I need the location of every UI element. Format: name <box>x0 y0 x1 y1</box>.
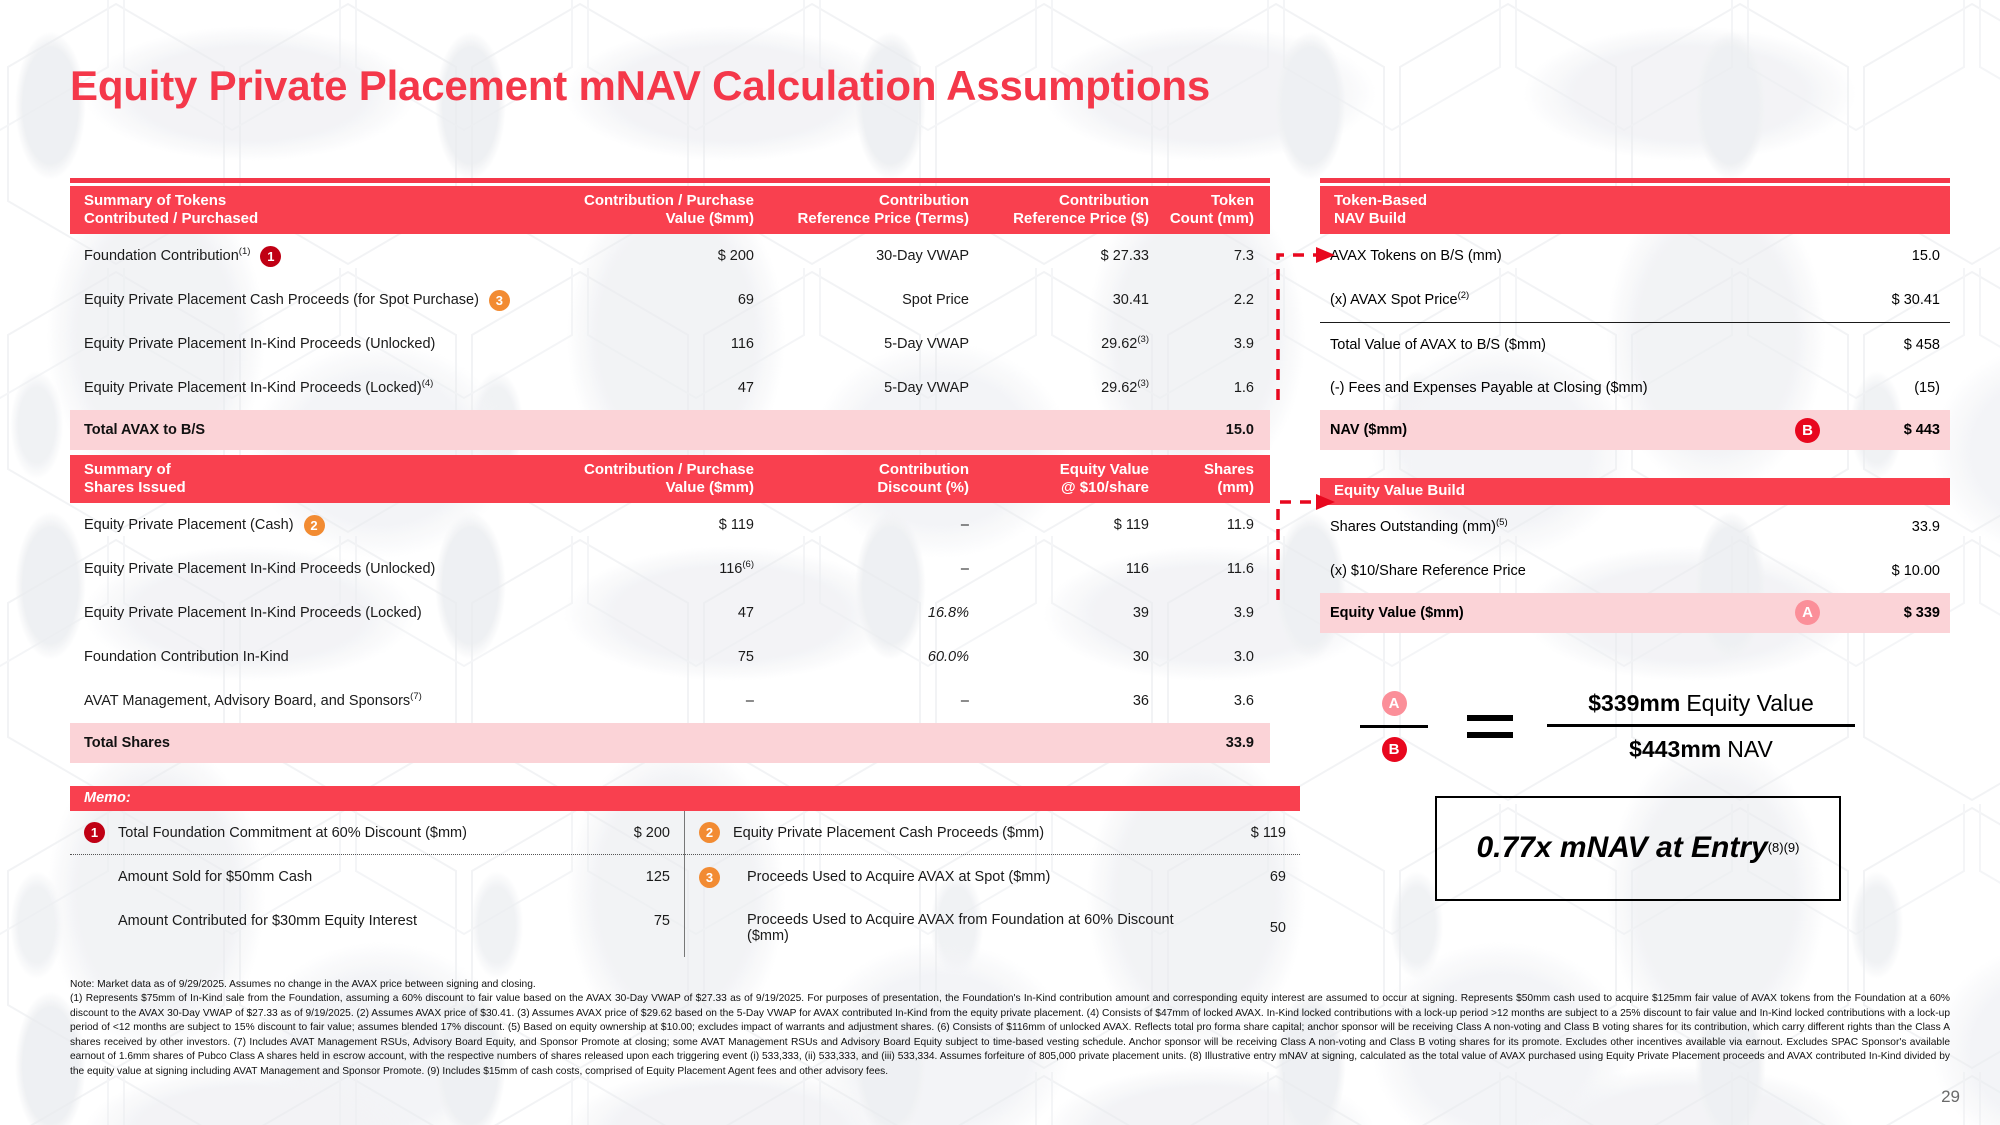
shares-row-shares: 11.6 <box>1149 561 1254 577</box>
tokens-total-label: Total AVAX to B/S <box>84 422 564 438</box>
memo-left-row: Amount Contributed for $30mm Equity Inte… <box>70 899 684 943</box>
table-row: Foundation Contribution(1) 1 $ 200 30-Da… <box>70 234 1270 278</box>
tokens-header-col2-line1: Contribution <box>754 192 969 210</box>
nav-row-label-sup: (2) <box>1458 291 1470 302</box>
tokens-row-label-sup: (4) <box>422 379 434 390</box>
nav-build-body: AVAX Tokens on B/S (mm) 15.0 (x) AVAX Sp… <box>1320 234 1950 410</box>
shares-row-discount: – <box>754 517 969 533</box>
memo-left-value: $ 200 <box>580 825 670 841</box>
shares-total-label: Total Shares <box>84 735 564 751</box>
memo-right-row: 3 Proceeds Used to Acquire AVAX at Spot … <box>685 855 1300 899</box>
shares-row-label: Foundation Contribution In-Kind <box>84 649 289 665</box>
formula-fraction-ab: A B <box>1355 691 1433 762</box>
equity-total-row: Equity Value ($mm) A $ 339 <box>1320 593 1950 633</box>
shares-row-value: 75 <box>564 649 754 665</box>
tokens-header-col0-line1: Summary of Tokens <box>84 192 564 210</box>
shares-row-discount: – <box>754 561 969 577</box>
memo-right-label: Proceeds Used to Acquire AVAX from Found… <box>733 912 1196 944</box>
memo-right-column: 2 Equity Private Placement Cash Proceeds… <box>685 811 1300 957</box>
tokens-row-terms: Spot Price <box>754 292 969 308</box>
shares-row-discount: – <box>754 693 969 709</box>
memo-right-value: 50 <box>1196 920 1286 936</box>
tokens-header-col0-line2: Contributed / Purchased <box>84 210 564 228</box>
shares-row-label-sup: (7) <box>410 692 422 703</box>
nav-row-label: AVAX Tokens on B/S (mm) <box>1330 248 1502 264</box>
tokens-table-header: Summary of Tokens Contributed / Purchase… <box>70 186 1270 234</box>
nav-total-label: NAV ($mm) <box>1330 422 1795 438</box>
tokens-total-row: Total AVAX to B/S 15.0 <box>70 410 1270 450</box>
slide-root: Equity Private Placement mNAV Calculatio… <box>0 0 2000 1125</box>
nav-total-value: $ 443 <box>1860 422 1940 438</box>
mnav-result-box: 0.77x mNAV at Entry(8)(9) <box>1435 796 1841 901</box>
memo-left-value: 75 <box>580 913 670 929</box>
memo-left-badge: 1 <box>84 822 105 843</box>
fraction-bar-left <box>1360 725 1428 728</box>
shares-header-col1-line2: Value ($mm) <box>564 479 754 497</box>
tokens-row-label: Equity Private Placement In-Kind Proceed… <box>84 336 435 352</box>
tokens-header-col3-line2: Reference Price ($) <box>969 210 1149 228</box>
tokens-row-price: 30.41 <box>969 292 1149 308</box>
nav-row-value: (15) <box>1914 380 1940 396</box>
tokens-table-topbar <box>70 178 1270 183</box>
memo-left-row: 1 Total Foundation Commitment at 60% Dis… <box>70 811 684 855</box>
shares-table-header: Summary of Shares Issued Contribution / … <box>70 455 1270 503</box>
nav-row-value: 15.0 <box>1912 248 1940 264</box>
shares-row-shares: 3.9 <box>1149 605 1254 621</box>
tokens-row-count: 3.9 <box>1149 336 1254 352</box>
shares-row-discount: 60.0% <box>754 649 969 665</box>
numerator-value: $339mm <box>1588 690 1680 716</box>
memo-left-label: Total Foundation Commitment at 60% Disco… <box>118 825 580 841</box>
nav-build-row: (x) AVAX Spot Price(2) $ 30.41 <box>1320 278 1950 322</box>
shares-header-col3-line2: @ $10/share <box>969 479 1149 497</box>
tokens-row-terms: 5-Day VWAP <box>754 380 969 396</box>
shares-row-equity-value: 36 <box>969 693 1149 709</box>
memo-right-badge: 2 <box>699 822 720 843</box>
equity-build-row: Shares Outstanding (mm)(5) 33.9 <box>1320 505 1950 549</box>
tokens-row-value: 47 <box>564 380 754 396</box>
shares-row-shares: 3.0 <box>1149 649 1254 665</box>
nav-build-header-line2: NAV Build <box>1334 210 1936 228</box>
nav-row-label: (x) AVAX Spot Price(2) <box>1330 292 1469 308</box>
tokens-total-count: 15.0 <box>1149 422 1254 438</box>
memo-left-column: 1 Total Foundation Commitment at 60% Dis… <box>70 811 685 957</box>
shares-row-equity-value: 39 <box>969 605 1149 621</box>
memo-left-label: Amount Contributed for $30mm Equity Inte… <box>118 913 580 929</box>
shares-header-col0-line2: Shares Issued <box>84 479 564 497</box>
shares-header-col2-line2: Discount (%) <box>754 479 969 497</box>
memo-left-label: Amount Sold for $50mm Cash <box>118 869 580 885</box>
tokens-row-price-sup: (3) <box>1137 335 1149 346</box>
nav-build-header: Token-Based NAV Build <box>1320 186 1950 234</box>
nav-row-label: Total Value of AVAX to B/S ($mm) <box>1330 337 1546 353</box>
tokens-row-value: $ 200 <box>564 248 754 264</box>
memo-right-badge: 3 <box>699 867 720 888</box>
shares-row-value-sup: (6) <box>742 560 754 571</box>
memo-right-row: 2 Equity Private Placement Cash Proceeds… <box>685 811 1300 855</box>
nav-build-row: (-) Fees and Expenses Payable at Closing… <box>1320 366 1950 410</box>
shares-row-equity-value: 30 <box>969 649 1149 665</box>
tokens-row-badge: 1 <box>260 246 281 267</box>
equity-row-label: (x) $10/Share Reference Price <box>1330 563 1526 579</box>
nav-badge-b: B <box>1795 418 1820 443</box>
tokens-row-badge: 3 <box>489 290 510 311</box>
shares-header-col4-line2: (mm) <box>1149 479 1254 497</box>
equity-row-value: $ 10.00 <box>1892 563 1940 579</box>
equity-row-value: 33.9 <box>1912 519 1940 535</box>
shares-row-label: Equity Private Placement In-Kind Proceed… <box>84 605 422 621</box>
memo-right-value: $ 119 <box>1196 825 1286 841</box>
tokens-row-label: Foundation Contribution(1) <box>84 248 250 264</box>
numerator-label: Equity Value <box>1686 690 1813 716</box>
tokens-row-label: Equity Private Placement Cash Proceeds (… <box>84 292 479 308</box>
shares-row-shares: 11.9 <box>1149 517 1254 533</box>
shares-row-value: $ 119 <box>564 517 754 533</box>
tokens-row-price: 29.62(3) <box>969 336 1149 352</box>
memo-block: Memo: 1 Total Foundation Commitment at 6… <box>70 786 1300 957</box>
tokens-row-price: 29.62(3) <box>969 380 1149 396</box>
equity-build-body: Shares Outstanding (mm)(5) 33.9 (x) $10/… <box>1320 505 1950 593</box>
memo-right-row: Proceeds Used to Acquire AVAX from Found… <box>685 899 1300 957</box>
nav-build-topbar <box>1320 178 1950 183</box>
mnav-formula: A B $339mmEquity Value $443mmNAV 0.77x m… <box>1355 690 1955 901</box>
footnote-body: (1) Represents $75mm of In-Kind sale fro… <box>70 992 1950 1079</box>
memo-right-label: Equity Private Placement Cash Proceeds (… <box>733 825 1196 841</box>
shares-row-equity-value: 116 <box>969 561 1149 577</box>
shares-row-value: 47 <box>564 605 754 621</box>
tokens-row-value: 69 <box>564 292 754 308</box>
tokens-header-col4-line1: Token <box>1149 192 1254 210</box>
equity-row-label-sup: (5) <box>1496 517 1508 528</box>
mnav-result-text: 0.77x mNAV at Entry <box>1476 831 1767 865</box>
shares-row-value: – <box>564 693 754 709</box>
shares-header-col0-line1: Summary of <box>84 461 564 479</box>
formula-fraction-values: $339mmEquity Value $443mmNAV <box>1547 690 1855 763</box>
shares-row-label: Equity Private Placement (Cash) <box>84 517 294 533</box>
nav-row-value: $ 30.41 <box>1892 292 1940 308</box>
memo-left-row: Amount Sold for $50mm Cash 125 <box>70 855 684 899</box>
shares-header-col2-line1: Contribution <box>754 461 969 479</box>
nav-build-panel: Token-Based NAV Build AVAX Tokens on B/S… <box>1320 178 1950 450</box>
shares-row-value: 116(6) <box>564 561 754 577</box>
denominator-label: NAV <box>1727 736 1773 762</box>
table-row: Equity Private Placement In-Kind Proceed… <box>70 547 1270 591</box>
equity-row-label: Shares Outstanding (mm)(5) <box>1330 519 1508 535</box>
shares-row-discount: 16.8% <box>754 605 969 621</box>
memo-right-value: 69 <box>1196 869 1286 885</box>
connector-nav-arrow <box>1240 185 1350 425</box>
equity-value-build-panel: Equity Value Build Shares Outstanding (m… <box>1320 478 1950 633</box>
memo-header: Memo: <box>70 786 1300 811</box>
memo-left-value: 125 <box>580 869 670 885</box>
nav-build-row: Total Value of AVAX to B/S ($mm) $ 458 <box>1320 322 1950 366</box>
footnote-note: Note: Market data as of 9/29/2025. Assum… <box>70 978 1950 992</box>
tokens-row-label-sup: (1) <box>239 247 251 258</box>
tokens-row-price: $ 27.33 <box>969 248 1149 264</box>
tokens-row-terms: 5-Day VWAP <box>754 336 969 352</box>
shares-row-label: AVAT Management, Advisory Board, and Spo… <box>84 693 422 709</box>
table-row: Equity Private Placement In-Kind Proceed… <box>70 366 1270 410</box>
equity-total-value: $ 339 <box>1860 605 1940 621</box>
page-title: Equity Private Placement mNAV Calculatio… <box>70 62 1210 110</box>
nav-row-value: $ 458 <box>1904 337 1940 353</box>
shares-row-badge: 2 <box>304 515 325 536</box>
tokens-header-col4-line2: Count (mm) <box>1149 210 1254 228</box>
nav-row-label: (-) Fees and Expenses Payable at Closing… <box>1330 380 1648 396</box>
formula-badge-a: A <box>1382 691 1407 716</box>
shares-row-equity-value: $ 119 <box>969 517 1149 533</box>
memo-right-label: Proceeds Used to Acquire AVAX at Spot ($… <box>733 869 1196 885</box>
tokens-row-count: 1.6 <box>1149 380 1254 396</box>
tokens-row-count: 2.2 <box>1149 292 1254 308</box>
tokens-row-label: Equity Private Placement In-Kind Proceed… <box>84 380 433 396</box>
table-row: Equity Private Placement Cash Proceeds (… <box>70 278 1270 322</box>
shares-table-body: Equity Private Placement (Cash) 2 $ 119 … <box>70 503 1270 723</box>
table-row: Equity Private Placement (Cash) 2 $ 119 … <box>70 503 1270 547</box>
tokens-row-price-sup: (3) <box>1137 379 1149 390</box>
equity-total-label: Equity Value ($mm) <box>1330 605 1795 621</box>
shares-header-col3-line1: Equity Value <box>969 461 1149 479</box>
tokens-row-value: 116 <box>564 336 754 352</box>
tokens-table-body: Foundation Contribution(1) 1 $ 200 30-Da… <box>70 234 1270 410</box>
nav-total-row: NAV ($mm) B $ 443 <box>1320 410 1950 450</box>
shares-total-shares: 33.9 <box>1149 735 1254 751</box>
equity-badge-a: A <box>1795 600 1820 625</box>
page-number: 29 <box>1941 1087 1960 1107</box>
shares-header-col1-line1: Contribution / Purchase <box>564 461 754 479</box>
tokens-header-col2-line2: Reference Price (Terms) <box>754 210 969 228</box>
tokens-table: Summary of Tokens Contributed / Purchase… <box>70 178 1270 450</box>
shares-header-col4-line1: Shares <box>1149 461 1254 479</box>
shares-table: Summary of Shares Issued Contribution / … <box>70 455 1270 763</box>
footnotes: Note: Market data as of 9/29/2025. Assum… <box>70 978 1950 1079</box>
tokens-header-col3-line1: Contribution <box>969 192 1149 210</box>
shares-total-row: Total Shares 33.9 <box>70 723 1270 763</box>
formula-badge-b: B <box>1382 737 1407 762</box>
shares-row-label: Equity Private Placement In-Kind Proceed… <box>84 561 435 577</box>
equity-build-header: Equity Value Build <box>1320 478 1950 505</box>
nav-build-row: AVAX Tokens on B/S (mm) 15.0 <box>1320 234 1950 278</box>
equity-build-row: (x) $10/Share Reference Price $ 10.00 <box>1320 549 1950 593</box>
denominator-value: $443mm <box>1629 736 1721 762</box>
equals-sign <box>1467 715 1513 738</box>
connector-equity-arrow <box>1240 460 1350 620</box>
tokens-row-count: 7.3 <box>1149 248 1254 264</box>
table-row: Foundation Contribution In-Kind 75 60.0%… <box>70 635 1270 679</box>
tokens-row-terms: 30-Day VWAP <box>754 248 969 264</box>
table-row: Equity Private Placement In-Kind Proceed… <box>70 591 1270 635</box>
table-row: AVAT Management, Advisory Board, and Spo… <box>70 679 1270 723</box>
shares-row-shares: 3.6 <box>1149 693 1254 709</box>
table-row: Equity Private Placement In-Kind Proceed… <box>70 322 1270 366</box>
tokens-header-col1-line2: Value ($mm) <box>564 210 754 228</box>
equity-build-header-label: Equity Value Build <box>1334 482 1465 500</box>
tokens-header-col1-line1: Contribution / Purchase <box>564 192 754 210</box>
nav-build-header-line1: Token-Based <box>1334 192 1936 210</box>
